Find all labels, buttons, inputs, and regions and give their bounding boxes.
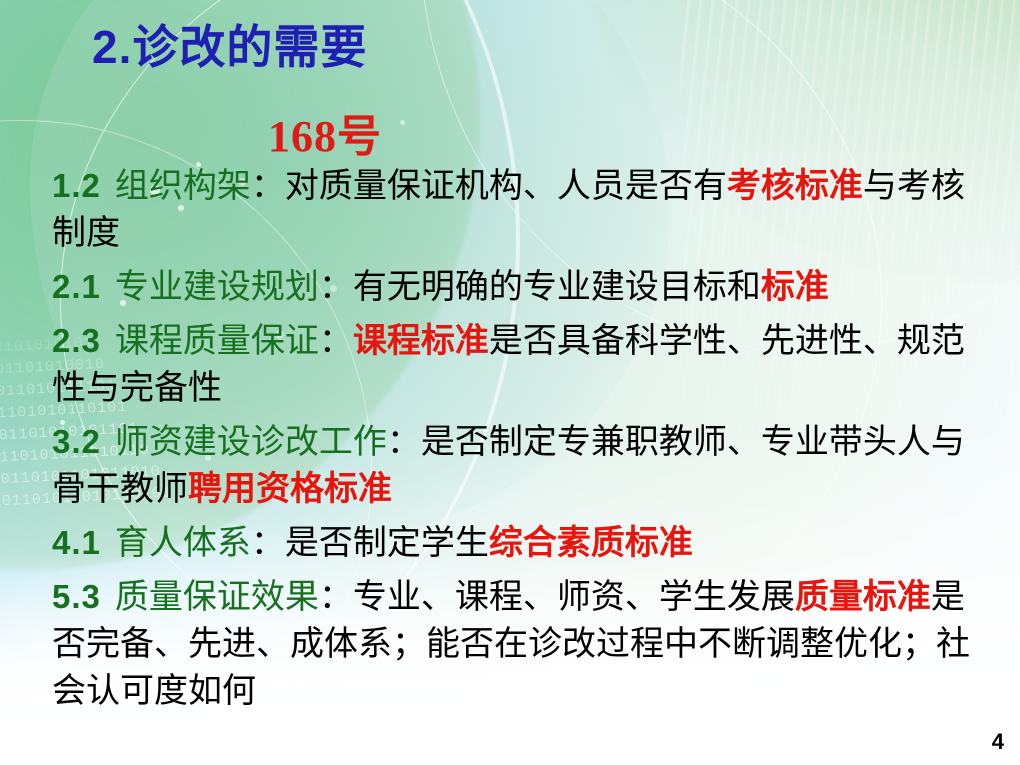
list-item-heading: 课程质量保证 [115, 323, 319, 360]
list-item: 5.3质量保证效果：专业、课程、师资、学生发展质量标准是否完备、先进、成体系；能… [52, 573, 990, 715]
list-item-number: 5.3 [52, 578, 101, 615]
list-item: 2.3课程质量保证：课程标准是否具备科学性、先进性、规范性与完备性 [52, 317, 990, 412]
list-item-text: 是否制定学生 [285, 525, 489, 562]
list-item-colon: ： [319, 269, 353, 306]
list-item-colon: ： [319, 579, 353, 616]
list-item-number: 4.1 [52, 524, 101, 561]
list-item-number: 1.2 [52, 167, 101, 204]
list-item-number: 2.3 [52, 322, 101, 359]
slide-content: 2.诊改的需要 168号 1.2组织构架：对质量保证机构、人员是否有考核标准与考… [0, 0, 1020, 765]
list-item-text: 专业、课程、师资、学生发展 [353, 579, 795, 616]
list-item-text: 对质量保证机构、人员是否有 [285, 168, 727, 205]
list-item-text: 有无明确的专业建设目标和 [353, 269, 761, 306]
list-item-emphasis: 考核标准 [727, 168, 863, 205]
list-item-number: 2.1 [52, 268, 101, 305]
list-item-colon: ： [319, 323, 353, 360]
list-item: 2.1专业建设规划：有无明确的专业建设目标和标准 [52, 263, 990, 311]
list-item-emphasis: 综合素质标准 [489, 525, 693, 562]
list-item-heading: 组织构架 [115, 168, 251, 205]
slide-subtitle: 168号 [0, 100, 1020, 164]
list-item-heading: 育人体系 [115, 525, 251, 562]
list-item-colon: ： [251, 168, 285, 205]
list-item: 1.2组织构架：对质量保证机构、人员是否有考核标准与考核制度 [52, 162, 990, 257]
presentation-slide: 10101010101 101101010010 1011010101101 0… [0, 0, 1020, 765]
bullet-list: 1.2组织构架：对质量保证机构、人员是否有考核标准与考核制度2.1专业建设规划：… [52, 162, 990, 721]
list-item-emphasis: 标准 [761, 269, 829, 306]
list-item-emphasis: 聘用资格标准 [188, 471, 392, 508]
list-item: 4.1育人体系：是否制定学生综合素质标准 [52, 519, 990, 567]
list-item-colon: ： [387, 424, 421, 461]
list-item-heading: 专业建设规划 [115, 269, 319, 306]
slide-title: 2.诊改的需要 [92, 22, 367, 73]
list-item-heading: 师资建设诊改工作 [115, 424, 387, 461]
list-item: 3.2师资建设诊改工作：是否制定专兼职教师、专业带头人与骨干教师聘用资格标准 [52, 418, 990, 513]
list-item-emphasis: 课程标准 [353, 323, 489, 360]
list-item-colon: ： [251, 525, 285, 562]
list-item-number: 3.2 [52, 423, 101, 460]
list-item-emphasis: 质量标准 [795, 579, 931, 616]
page-number: 4 [992, 729, 1004, 755]
list-item-heading: 质量保证效果 [115, 579, 319, 616]
